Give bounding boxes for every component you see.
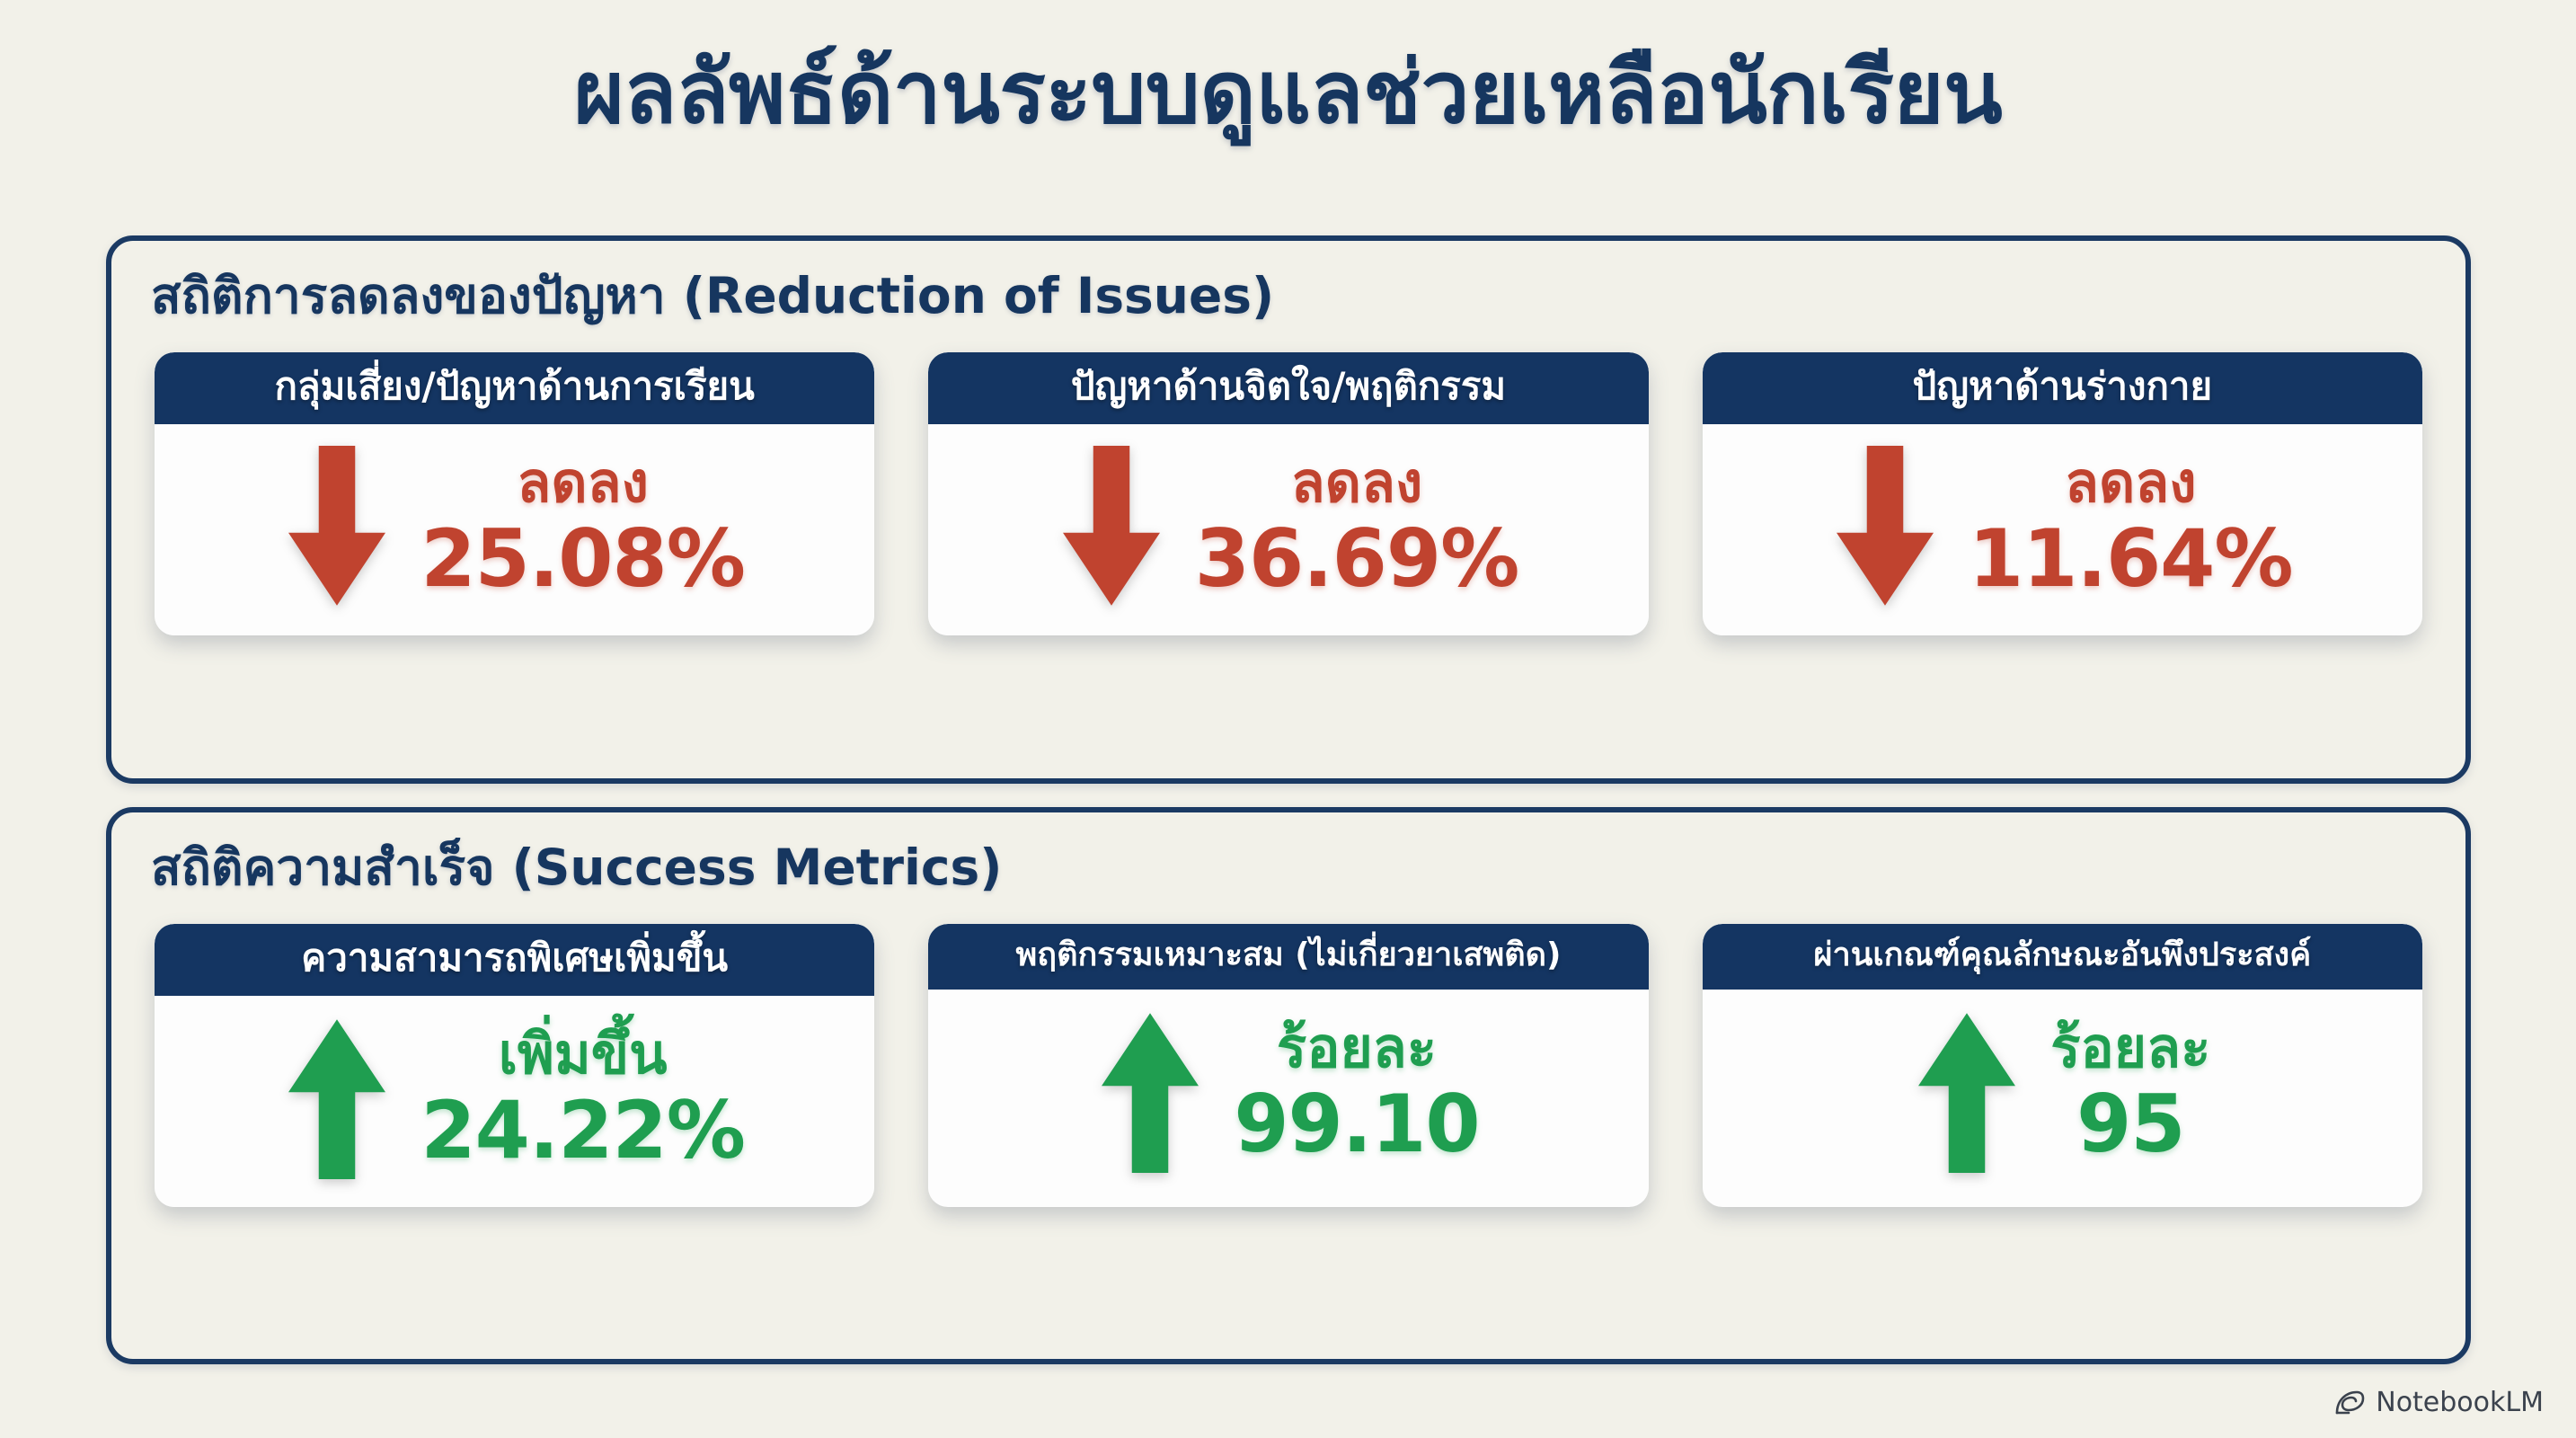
metric-card-header: กลุ่มเสี่ยง/ปัญหาด้านการเรียน (155, 352, 874, 424)
notebooklm-watermark: NotebookLM (2334, 1387, 2544, 1418)
metric-card-body: ลดลง 11.64% (1703, 424, 2422, 635)
metric-label: ลดลง (2065, 449, 2197, 515)
metric-value-group: ลดลง 25.08% (420, 449, 745, 604)
notebooklm-label: NotebookLM (2376, 1387, 2544, 1418)
infographic-page: ผลลัพธ์ด้านระบบดูแลช่วยเหลือนักเรียน สถิ… (0, 0, 2576, 1438)
metric-number: 99.10 (1234, 1080, 1479, 1169)
arrow-up-icon (284, 1017, 390, 1179)
metric-card-body: ร้อยละ 99.10 (928, 990, 1648, 1201)
metric-card-header: ผ่านเกณฑ์คุณลักษณะอันพึงประสงค์ (1703, 924, 2422, 990)
metric-card-header: ความสามารถพิเศษเพิ่มขึ้น (155, 924, 874, 996)
metric-number: 25.08% (420, 515, 745, 604)
metric-card-appropriate-behavior[interactable]: พฤติกรรมเหมาะสม (ไม่เกี่ยวยาเสพติด) ร้อย… (928, 924, 1648, 1207)
page-title: ผลลัพธ์ด้านระบบดูแลช่วยเหลือนักเรียน (574, 48, 2003, 138)
metric-value-group: ร้อยละ 99.10 (1234, 1015, 1479, 1169)
metric-card-header: พฤติกรรมเหมาะสม (ไม่เกี่ยวยาเสพติด) (928, 924, 1648, 990)
metric-number: 11.64% (1969, 515, 2293, 604)
notebooklm-spiral-icon (2334, 1389, 2365, 1416)
metric-card-header: ปัญหาด้านจิตใจ/พฤติกรรม (928, 352, 1648, 424)
metric-card-body: ลดลง 25.08% (155, 424, 874, 635)
title-bar: ผลลัพธ์ด้านระบบดูแลช่วยเหลือนักเรียน (0, 0, 2576, 162)
arrow-up-icon (1097, 1011, 1203, 1173)
arrow-down-icon (284, 446, 390, 608)
metric-number: 24.22% (420, 1087, 745, 1176)
metric-card-body: เพิ่มขึ้น 24.22% (155, 996, 874, 1207)
section-title-success: สถิติความสำเร็จ (Success Metrics) (151, 838, 2465, 897)
metric-label: ร้อยละ (2050, 1015, 2210, 1080)
metric-card-at-risk-learning[interactable]: กลุ่มเสี่ยง/ปัญหาด้านการเรียน ลดลง 25.08… (155, 352, 874, 635)
card-row-success: ความสามารถพิเศษเพิ่มขึ้น เพิ่มขึ้น 24.22… (111, 897, 2465, 1207)
metric-label: ลดลง (1291, 449, 1423, 515)
metric-card-mental-behavior[interactable]: ปัญหาด้านจิตใจ/พฤติกรรม ลดลง 36.69% (928, 352, 1648, 635)
metric-number: 95 (2076, 1080, 2184, 1169)
metric-label: ร้อยละ (1277, 1015, 1437, 1080)
metric-label: เพิ่มขึ้น (499, 1021, 668, 1087)
metric-value-group: ร้อยละ 95 (2050, 1015, 2210, 1169)
metric-card-body: ลดลง 36.69% (928, 424, 1648, 635)
arrow-up-icon (1914, 1011, 2020, 1173)
metric-card-header: ปัญหาด้านร่างกาย (1703, 352, 2422, 424)
arrow-down-icon (1832, 446, 1938, 608)
metric-card-body: ร้อยละ 95 (1703, 990, 2422, 1201)
section-success-metrics: สถิติความสำเร็จ (Success Metrics) ความสา… (106, 807, 2471, 1364)
arrow-down-icon (1058, 446, 1164, 608)
metric-card-desirable-characteristics[interactable]: ผ่านเกณฑ์คุณลักษณะอันพึงประสงค์ ร้อยละ 9… (1703, 924, 2422, 1207)
metric-value-group: ลดลง 36.69% (1195, 449, 1519, 604)
metric-value-group: เพิ่มขึ้น 24.22% (420, 1021, 745, 1176)
section-title-reduction: สถิติการลดลงของปัญหา (Reduction of Issue… (151, 266, 2465, 325)
metric-card-physical[interactable]: ปัญหาด้านร่างกาย ลดลง 11.64% (1703, 352, 2422, 635)
metric-card-special-abilities[interactable]: ความสามารถพิเศษเพิ่มขึ้น เพิ่มขึ้น 24.22… (155, 924, 874, 1207)
card-row-reduction: กลุ่มเสี่ยง/ปัญหาด้านการเรียน ลดลง 25.08… (111, 325, 2465, 635)
metric-number: 36.69% (1195, 515, 1519, 604)
section-reduction-of-issues: สถิติการลดลงของปัญหา (Reduction of Issue… (106, 235, 2471, 784)
metric-label: ลดลง (517, 449, 649, 515)
metric-value-group: ลดลง 11.64% (1969, 449, 2293, 604)
